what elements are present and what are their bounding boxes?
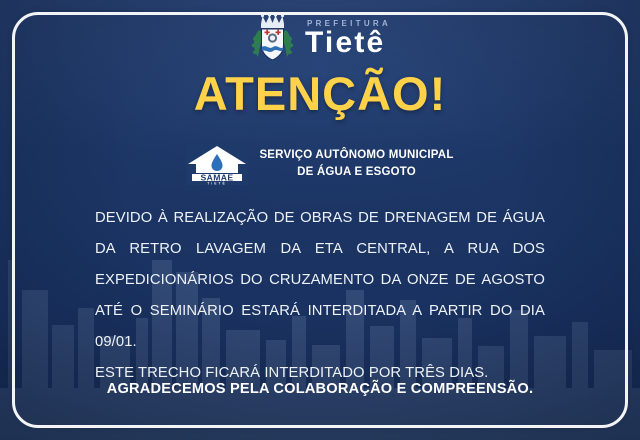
samae-house-waterdrop-icon: SAMAE TIETÊ (186, 143, 248, 185)
city-name-title: Tietê (305, 29, 385, 58)
svg-text:TIETÊ: TIETÊ (208, 180, 228, 185)
samae-agency-block: SAMAE TIETÊ SERVIÇO AUTÔNOMO MUNICIPAL D… (0, 143, 640, 185)
attention-headline: ATENÇÃO! (0, 66, 640, 121)
prefeitura-brand-header: PREFEITURA Tietê (0, 12, 640, 66)
samae-full-name: SERVIÇO AUTÔNOMO MUNICIPAL DE ÁGUA E ESG… (259, 147, 453, 182)
announcement-poster: PREFEITURA Tietê ATENÇÃO! SAMAE TIETÊ SE… (0, 0, 640, 440)
notice-body: DEVIDO À REALIZAÇÃO DE OBRAS DE DRENAGEM… (95, 203, 545, 389)
notice-paragraph-1: DEVIDO À REALIZAÇÃO DE OBRAS DE DRENAGEM… (95, 203, 545, 358)
samae-name-line-2: DE ÁGUA E ESGOTO (259, 164, 453, 181)
samae-name-line-1: SERVIÇO AUTÔNOMO MUNICIPAL (259, 147, 453, 164)
tiete-coat-of-arms-icon (249, 12, 296, 66)
thanks-footer: AGRADECEMOS PELA COLABORAÇÃO E COMPREENS… (0, 381, 640, 397)
